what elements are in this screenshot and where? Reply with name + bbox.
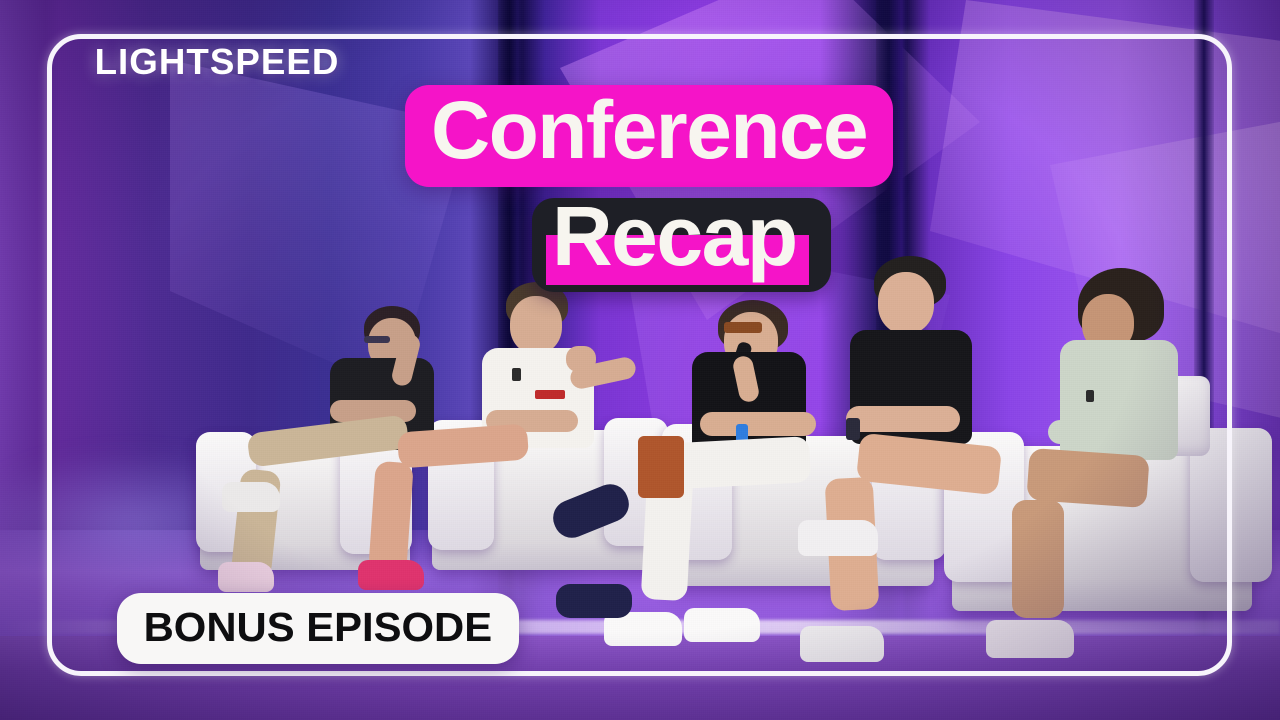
panelist-2-logo <box>535 390 565 399</box>
bonus-episode-badge: BONUS EPISODE <box>117 593 519 664</box>
panelist-2-hand <box>566 346 596 372</box>
title-line-2-box: Recap <box>532 198 831 292</box>
panelist-2-head <box>510 296 562 354</box>
panelist-4-shoe <box>798 520 878 556</box>
panelist-4-shoe <box>800 626 884 662</box>
panelist-4-watch <box>846 418 860 440</box>
panelist-5-leg <box>1012 500 1064 618</box>
panelist-3-arm <box>700 412 816 436</box>
title-line-1-pill: Conference <box>405 85 893 187</box>
panelist-2-lapel-mic <box>512 368 521 381</box>
lightspeed-brand-logo: LIGHTSPEED <box>95 41 340 83</box>
title-line-2-text: Recap <box>552 198 797 278</box>
panelist-4-head <box>878 272 934 334</box>
panelist-1-glasses <box>364 336 390 343</box>
panelist-2-leg <box>368 461 414 573</box>
panelist-3-sandal <box>556 584 632 618</box>
panelist-4-arm <box>846 406 960 432</box>
title-line-1-text: Conference <box>431 89 867 173</box>
bonus-episode-badge-label: BONUS EPISODE <box>144 604 493 651</box>
panelist-3-shoe <box>684 608 760 642</box>
panelist-5-lapel-mic <box>1086 390 1094 402</box>
panelist-1-shoe <box>218 562 274 592</box>
panelist-2-shoe <box>358 560 424 590</box>
stage-prop-bag <box>638 436 684 498</box>
video-thumbnail: LIGHTSPEED Conference Recap BONUS EPISOD… <box>0 0 1280 720</box>
panelist-3-sunglasses <box>724 322 762 333</box>
panelist-5-shoe <box>986 620 1074 658</box>
panelist-1-shoe <box>222 482 280 512</box>
panelist-5-arm <box>1048 420 1126 444</box>
